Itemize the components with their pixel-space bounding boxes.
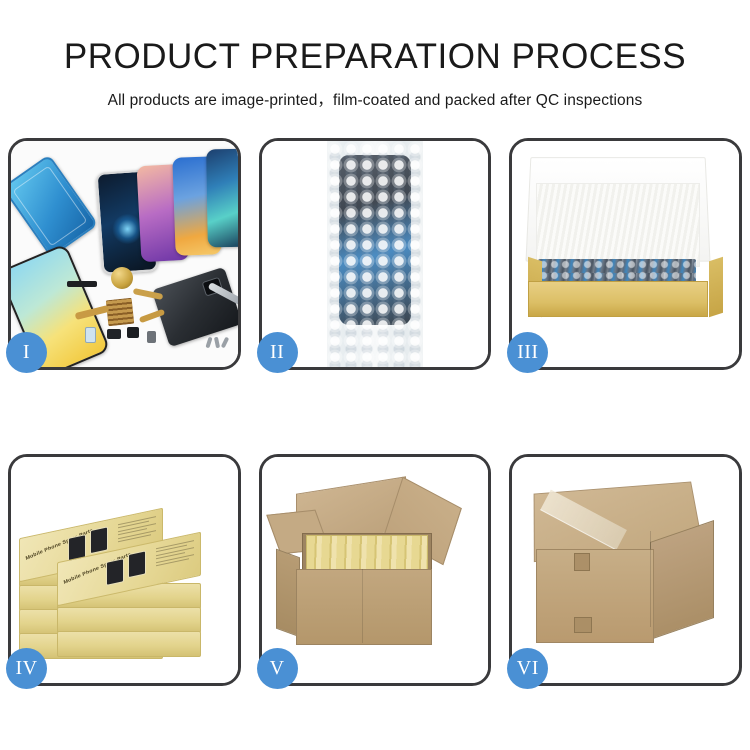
carton-handle-tab-lower	[574, 617, 592, 633]
step-1-image	[11, 141, 238, 367]
product-preparation-infographic: PRODUCT PREPARATION PROCESS All products…	[0, 0, 750, 750]
page-title: PRODUCT PREPARATION PROCESS	[0, 0, 750, 77]
retail-box-body	[57, 607, 201, 633]
box-side-right	[709, 257, 723, 318]
open-box-illustration	[512, 141, 739, 367]
small-part-dark	[127, 327, 139, 338]
sim-tray	[85, 327, 96, 343]
screws-group	[207, 337, 233, 351]
step-panel-3[interactable]: III	[509, 138, 742, 370]
camera-module	[107, 329, 121, 339]
phone-back-housing	[152, 267, 238, 348]
box-front-panel	[528, 281, 708, 317]
box-product-image	[106, 558, 124, 586]
box-spec-lines	[156, 540, 194, 574]
carton-front-panel	[296, 569, 432, 645]
step-2-image	[262, 141, 489, 367]
stacked-boxes-illustration: Mobile Phone Spare Parts Mobile Phone Sp…	[11, 457, 238, 683]
step-6-image	[512, 457, 739, 683]
bubble-wrap-illustration	[262, 141, 489, 367]
step-panel-4[interactable]: Mobile Phone Spare Parts Mobile Phone Sp…	[8, 454, 241, 686]
step-badge-2: II	[257, 332, 298, 373]
foam-lining	[536, 183, 700, 267]
carton-handle-tab-upper	[574, 553, 590, 571]
step-panel-5[interactable]: V	[259, 454, 492, 686]
page-subtitle: All products are image-printed，film-coat…	[0, 77, 750, 110]
box-product-image	[90, 526, 108, 554]
lcd-assembly-blue	[11, 154, 98, 258]
box-product-image	[128, 550, 146, 578]
step-badge-4: IV	[6, 648, 47, 689]
open-carton-illustration	[262, 457, 489, 683]
step-badge-1: I	[6, 332, 47, 373]
phone-screen-teal	[206, 149, 238, 248]
step-panel-6[interactable]: VI	[509, 454, 742, 686]
carton-right-panel	[650, 520, 714, 640]
step-4-image: Mobile Phone Spare Parts Mobile Phone Sp…	[11, 457, 238, 683]
step-panel-2[interactable]: II	[259, 138, 492, 370]
retail-box-body	[57, 631, 201, 657]
sealed-carton-illustration	[512, 457, 739, 683]
carton-front-panel	[536, 549, 654, 643]
process-step-grid: I II	[8, 138, 742, 686]
step-5-image	[262, 457, 489, 683]
header: PRODUCT PREPARATION PROCESS All products…	[0, 0, 750, 110]
vibration-motor	[111, 267, 133, 289]
box-stack: Mobile Phone Spare Parts Mobile Phone Sp…	[17, 475, 217, 655]
step-3-image	[512, 141, 739, 367]
phone-parts-illustration	[11, 141, 238, 367]
speaker-module	[67, 281, 97, 287]
connector-chip-grid	[106, 298, 135, 327]
step-panel-1[interactable]: I	[8, 138, 241, 370]
carton-seam	[362, 569, 363, 643]
step-badge-5: V	[257, 648, 298, 689]
carton-corner-edge	[650, 531, 651, 627]
small-part-gray	[147, 331, 156, 343]
bubble-highlights	[327, 141, 423, 367]
